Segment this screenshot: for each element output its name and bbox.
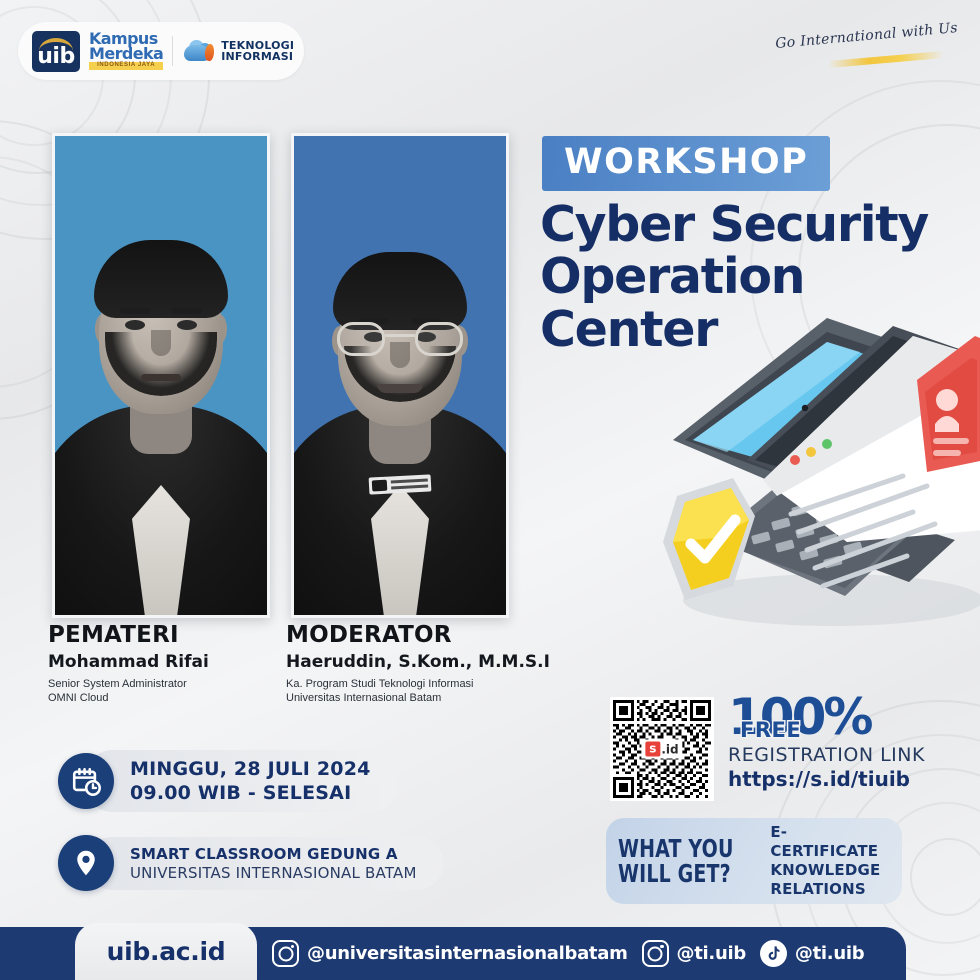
benefit-item-3: RELATIONS	[770, 880, 890, 899]
event-time: 09.00 WIB - SELESAI	[130, 782, 371, 804]
free-label: FREE	[740, 718, 801, 742]
benefits-question-line1: WHAT YOU	[618, 836, 754, 861]
workshop-label: WORKSHOP	[564, 142, 808, 182]
sid-logo-badge: s .id	[641, 740, 682, 759]
workshop-chip: WORKSHOP	[542, 136, 830, 191]
calendar-clock-icon	[58, 753, 114, 809]
poster-canvas: uib Kampus Merdeka INDONESIA JAYA TEKNOL…	[0, 0, 980, 980]
social-instagram-ti[interactable]: @ti.uib	[642, 940, 746, 967]
tagline-underline-swoosh	[828, 51, 944, 68]
social-handle: @ti.uib	[677, 943, 746, 964]
location-institution: UNIVERSITAS INTERNASIONAL BATAM	[130, 864, 417, 882]
benefits-question: WHAT YOU WILL GET?	[618, 836, 754, 886]
speaker-role: PEMATERI	[48, 622, 209, 648]
social-instagram-main[interactable]: @universitasinternasionalbatam	[272, 940, 628, 967]
benefits-question-line2: WILL GET?	[618, 861, 754, 886]
instagram-icon	[642, 940, 669, 967]
footer-website-chip[interactable]: uib.ac.id	[75, 923, 257, 980]
registration-link-url[interactable]: https://s.id/tiuib	[728, 767, 978, 791]
logo-divider	[172, 36, 173, 66]
title-line-2: Operation	[540, 251, 970, 303]
kampus-merdeka-banner: INDONESIA JAYA	[89, 62, 163, 70]
teknologi-informasi-logo: TEKNOLOGI INFORMASI	[182, 38, 294, 64]
social-handle: @universitasinternasionalbatam	[307, 943, 628, 964]
speaker-sub1: Senior System Administrator	[48, 677, 209, 691]
uib-logo-icon: uib	[32, 31, 80, 72]
speaker-photo-moderator	[291, 133, 509, 618]
partner-logo-bar: uib Kampus Merdeka INDONESIA JAYA TEKNOL…	[18, 22, 304, 80]
location-venue: SMART CLASSROOM GEDUNG A	[130, 845, 417, 863]
speaker-info-moderator: MODERATOR Haeruddin, S.Kom., M.M.S.I Ka.…	[286, 622, 550, 706]
event-date-pill: MINGGU, 28 JULI 2024 09.00 WIB - SELESAI	[58, 750, 397, 812]
map-pin-icon	[58, 835, 114, 891]
kampus-merdeka-logo: Kampus Merdeka INDONESIA JAYA	[89, 32, 163, 70]
laptop-security-illustration	[655, 300, 980, 640]
speaker-name: Haeruddin, S.Kom., M.M.S.I	[286, 652, 550, 672]
speaker-photo-pemateri	[52, 133, 270, 618]
benefit-item-1: E-CERTIFICATE	[770, 823, 890, 861]
tiktok-icon	[760, 940, 787, 967]
benefits-box: WHAT YOU WILL GET? E-CERTIFICATE KNOWLED…	[606, 818, 902, 904]
speaker-info-pemateri: PEMATERI Mohammad Rifai Senior System Ad…	[48, 622, 209, 706]
speaker-sub1: Ka. Program Studi Teknologi Informasi	[286, 677, 550, 691]
instagram-icon	[272, 940, 299, 967]
uniform-badge	[369, 474, 432, 494]
event-date: MINGGU, 28 JULI 2024	[130, 758, 371, 780]
registration-link-label: REGISTRATION LINK	[728, 744, 978, 766]
social-tiktok-ti[interactable]: @ti.uib	[760, 940, 864, 967]
tagline-text: Go International with Us	[775, 20, 959, 52]
website-url: uib.ac.id	[107, 937, 226, 966]
benefits-list: E-CERTIFICATE KNOWLEDGE RELATIONS	[770, 823, 890, 899]
speaker-sub2: OMNI Cloud	[48, 691, 209, 705]
speaker-role: MODERATOR	[286, 622, 550, 648]
registration-info: 100% FREE REGISTRATION LINK https://s.id…	[728, 694, 978, 791]
social-handle: @ti.uib	[795, 943, 864, 964]
flame-icon	[204, 44, 215, 62]
speaker-name: Mohammad Rifai	[48, 652, 209, 672]
uib-logo-text: uib	[32, 44, 80, 69]
event-location-pill: SMART CLASSROOM GEDUNG A UNIVERSITAS INT…	[58, 835, 443, 891]
cloud-flame-icon	[182, 38, 216, 64]
registration-qr-code[interactable]: s .id	[610, 697, 714, 801]
sid-logo-text: .id	[661, 742, 678, 756]
teknologi-line2: INFORMASI	[221, 51, 294, 62]
speaker-sub2: Universitas Internasional Batam	[286, 691, 550, 705]
sid-logo-mark: s	[645, 742, 660, 757]
title-line-1: Cyber Security	[540, 199, 970, 251]
benefit-item-2: KNOWLEDGE	[770, 861, 890, 880]
kampus-merdeka-line2: Merdeka	[89, 47, 163, 62]
